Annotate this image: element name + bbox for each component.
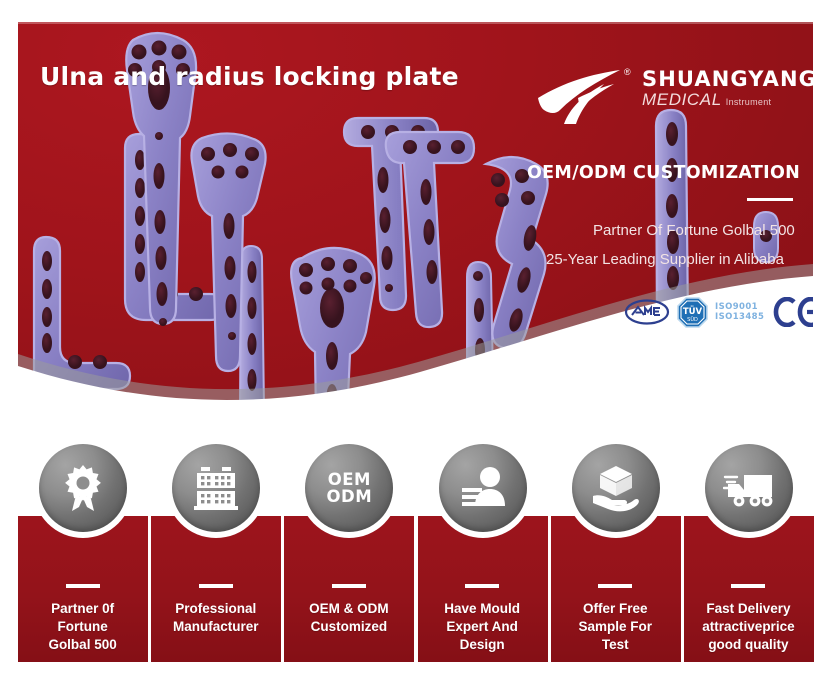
iso-certification-label: ISO9001 ISO13485 [715, 302, 764, 322]
card-label: ProfessionalManufacturer [155, 600, 276, 636]
feature-card-manufacturer[interactable]: ProfessionalManufacturer [151, 438, 280, 662]
svg-text:TÜV: TÜV [683, 306, 703, 317]
award-rosette-icon [57, 462, 109, 514]
amed-certification-icon [624, 299, 670, 325]
card-icon-circle [172, 444, 260, 532]
feature-card-free-sample[interactable]: Offer FreeSample ForTest [551, 438, 680, 662]
registered-trademark-icon: ® [624, 67, 631, 77]
expert-person-icon [457, 462, 509, 514]
hand-holding-box-icon [590, 462, 642, 514]
brand-tagline: MEDICAL [642, 90, 722, 109]
card-label: Offer FreeSample ForTest [555, 600, 676, 654]
card-icon-circle [39, 444, 127, 532]
feature-card-partner[interactable]: Partner 0fFortuneGolbal 500 [18, 438, 147, 662]
brand-tagline-row: MEDICALInstrument [642, 92, 813, 110]
card-icon-circle [572, 444, 660, 532]
svg-text:SÜD: SÜD [687, 316, 698, 323]
factory-building-icon [190, 462, 242, 514]
oem-odm-text-icon: OEM ODM [327, 471, 373, 505]
odm-line: ODM [327, 488, 373, 505]
promo-line-1: Partner Of Fortune Golbal 500 [593, 222, 795, 239]
card-label: OEM & ODMCustomized [288, 600, 409, 636]
card-icon-circle: OEM ODM [305, 444, 393, 532]
swoosh-arrow-logo-icon [534, 68, 626, 126]
hero-banner: Ulna and radius locking plate ® SHUANGYA… [18, 22, 813, 422]
promo-line-2: 25-Year Leading Supplier in Alibaba [546, 251, 784, 268]
card-divider [731, 584, 765, 588]
banner-page: Ulna and radius locking plate ® SHUANGYA… [0, 0, 831, 684]
delivery-truck-icon [723, 462, 775, 514]
page-title: Ulna and radius locking plate [40, 62, 459, 91]
brand-logo: ® SHUANGYANG MEDICALInstrument [534, 64, 813, 126]
card-divider [199, 584, 233, 588]
card-icon-circle [705, 444, 793, 532]
card-icon-circle [439, 444, 527, 532]
card-divider [332, 584, 366, 588]
card-label: Fast Deliveryattractivepricegood quality [688, 600, 809, 654]
brand-name: SHUANGYANG [642, 68, 813, 90]
card-divider [465, 584, 499, 588]
card-label: Have MouldExpert AndDesign [422, 600, 543, 654]
feature-card-oem-odm[interactable]: OEM ODM OEM & ODMCustomized [284, 438, 413, 662]
feature-cards: Partner 0fFortuneGolbal 500 [18, 438, 813, 664]
tuv-sud-certification-icon: TÜV SÜD [677, 297, 708, 328]
iso-9001-label: ISO9001 [715, 302, 764, 312]
feature-card-fast-delivery[interactable]: Fast Deliveryattractivepricegood quality [684, 438, 813, 662]
card-divider [66, 584, 100, 588]
promo-heading: OEM/ODM CUSTOMIZATION [527, 163, 813, 183]
certification-badges: TÜV SÜD ISO9001 ISO13485 [624, 294, 813, 330]
card-divider [598, 584, 632, 588]
brand-lockup-text: SHUANGYANG MEDICALInstrument [642, 68, 813, 110]
oem-line: OEM [327, 471, 373, 488]
ce-marking-icon [773, 297, 813, 327]
brand-tagline-suffix: Instrument [726, 97, 772, 107]
promo-divider [747, 198, 793, 201]
card-label: Partner 0fFortuneGolbal 500 [22, 600, 143, 654]
iso-13485-label: ISO13485 [715, 312, 764, 322]
feature-card-mould-expert[interactable]: Have MouldExpert AndDesign [418, 438, 547, 662]
